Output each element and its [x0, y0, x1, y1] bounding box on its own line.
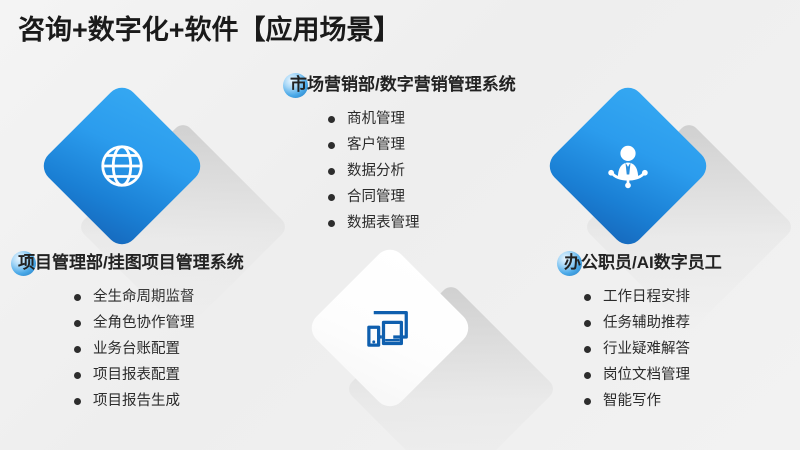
group-marketing-heading-text: 市场营销部/数字营销管理系统: [290, 75, 516, 94]
bullet-icon: [74, 398, 81, 405]
multi-device-icon: [330, 268, 450, 388]
tile-devices[interactable]: [330, 268, 450, 388]
bullet-icon: [328, 220, 335, 227]
list-item-label: 项目报告生成: [93, 388, 180, 414]
list-item[interactable]: 合同管理: [328, 184, 516, 210]
tile-staff[interactable]: [568, 106, 688, 226]
list-item[interactable]: 客户管理: [328, 132, 516, 158]
list-item-label: 数据表管理: [347, 210, 420, 236]
list-item[interactable]: 数据表管理: [328, 210, 516, 236]
page-title: 咨询+数字化+软件【应用场景】: [18, 8, 401, 47]
bullet-icon: [584, 320, 591, 327]
bullet-icon: [328, 168, 335, 175]
bullet-icon: [584, 398, 591, 405]
bullet-icon: [74, 294, 81, 301]
bullet-icon: [584, 372, 591, 379]
bullet-icon: [74, 320, 81, 327]
list-item-label: 业务台账配置: [93, 336, 180, 362]
list-item[interactable]: 全角色协作管理: [74, 310, 244, 336]
bullet-icon: [328, 142, 335, 149]
bullet-icon: [328, 116, 335, 123]
list-item[interactable]: 数据分析: [328, 158, 516, 184]
group-project-heading: 项目管理部/挂图项目管理系统: [16, 252, 244, 274]
group-marketing-items: 商机管理 客户管理 数据分析 合同管理 数据表管理: [328, 106, 516, 236]
group-marketing-heading: 市场营销部/数字营销管理系统: [288, 74, 516, 96]
bullet-icon: [584, 294, 591, 301]
list-item-label: 岗位文档管理: [603, 362, 690, 388]
bullet-icon: [584, 346, 591, 353]
list-item-label: 商机管理: [347, 106, 405, 132]
list-item-label: 行业疑难解答: [603, 336, 690, 362]
list-item-label: 项目报表配置: [93, 362, 180, 388]
list-item[interactable]: 业务台账配置: [74, 336, 244, 362]
list-item[interactable]: 商机管理: [328, 106, 516, 132]
list-item[interactable]: 岗位文档管理: [584, 362, 722, 388]
list-item[interactable]: 行业疑难解答: [584, 336, 722, 362]
group-project-heading-text: 项目管理部/挂图项目管理系统: [18, 253, 244, 272]
tile-global[interactable]: [62, 106, 182, 226]
list-item-label: 智能写作: [603, 388, 661, 414]
list-item[interactable]: 项目报告生成: [74, 388, 244, 414]
list-item-label: 客户管理: [347, 132, 405, 158]
slide-canvas: 咨询+数字化+软件【应用场景】: [0, 0, 800, 450]
group-office-heading: 办公职员/AI数字员工: [562, 252, 722, 274]
bullet-icon: [74, 346, 81, 353]
bullet-icon: [328, 194, 335, 201]
list-item-label: 合同管理: [347, 184, 405, 210]
group-marketing: 市场营销部/数字营销管理系统 商机管理 客户管理 数据分析 合同管理 数据表管理: [288, 74, 516, 236]
globe-icon: [62, 106, 182, 226]
list-item[interactable]: 智能写作: [584, 388, 722, 414]
list-item[interactable]: 项目报表配置: [74, 362, 244, 388]
businessman-icon: [568, 106, 688, 226]
list-item-label: 数据分析: [347, 158, 405, 184]
group-office-heading-text: 办公职员/AI数字员工: [564, 253, 722, 272]
bullet-icon: [74, 372, 81, 379]
